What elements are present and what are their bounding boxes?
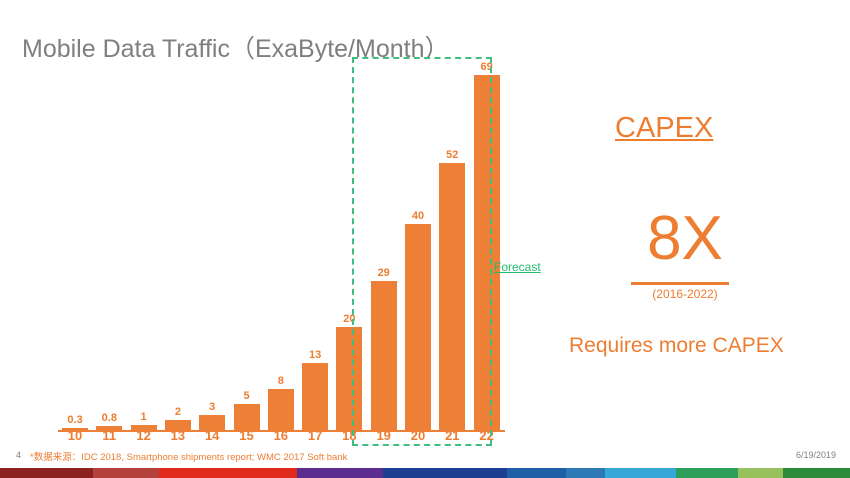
category-axis: 10111213141516171819202122 xyxy=(56,428,506,448)
capex-multiplier-underline xyxy=(631,282,729,285)
color-strip-segment xyxy=(383,468,506,478)
bar-slot: 29 xyxy=(367,60,401,430)
color-strip-segment xyxy=(93,468,160,478)
slide-number: 4 xyxy=(16,450,21,460)
bar-slot: 5 xyxy=(230,60,264,430)
source-footnote: *数据来源：IDC 2018, Smartphone shipments rep… xyxy=(30,449,347,463)
color-strip-segment xyxy=(507,468,566,478)
capex-statement: Requires more CAPEX xyxy=(569,334,784,358)
bar-series: 0.30.812358132029405269 xyxy=(56,60,506,430)
category-label: 15 xyxy=(230,428,264,443)
bar[interactable] xyxy=(336,327,362,430)
footer-color-strip xyxy=(0,468,850,478)
bar-slot: 40 xyxy=(401,60,435,430)
bar-slot: 8 xyxy=(264,60,298,430)
bar-value-label: 1 xyxy=(127,411,161,423)
bar-value-label: 0.3 xyxy=(58,414,92,426)
color-strip-segment xyxy=(0,468,93,478)
category-label: 22 xyxy=(470,428,504,443)
bar-slot: 52 xyxy=(435,60,469,430)
category-label: 18 xyxy=(332,428,366,443)
bar-value-label: 13 xyxy=(298,349,332,361)
bar[interactable] xyxy=(302,363,328,430)
slide-canvas: Mobile Data Traffic（ExaByte/Month） 0.30.… xyxy=(0,0,850,478)
bar-slot: 0.3 xyxy=(58,60,92,430)
category-label: 11 xyxy=(92,428,126,443)
color-strip-segment xyxy=(605,468,676,478)
bar-value-label: 2 xyxy=(161,406,195,418)
category-label: 10 xyxy=(58,428,92,443)
bar-slot: 3 xyxy=(195,60,229,430)
category-label: 12 xyxy=(127,428,161,443)
category-label: 14 xyxy=(195,428,229,443)
bar-value-label: 5 xyxy=(230,390,264,402)
color-strip-segment xyxy=(783,468,850,478)
bar-value-label: 69 xyxy=(470,61,504,73)
color-strip-segment xyxy=(676,468,739,478)
capex-panel: CAPEX 8X (2016-2022) Requires more CAPEX xyxy=(555,60,850,390)
bar-slot: 69 xyxy=(470,60,504,430)
bar-slot: 20 xyxy=(332,60,366,430)
bar-value-label: 8 xyxy=(264,375,298,387)
bar[interactable] xyxy=(439,163,465,430)
color-strip-segment xyxy=(159,468,296,478)
color-strip-segment xyxy=(297,468,383,478)
bar[interactable] xyxy=(268,389,294,430)
bar[interactable] xyxy=(234,404,260,430)
bar-slot: 2 xyxy=(161,60,195,430)
bar-value-label: 3 xyxy=(195,401,229,413)
category-label: 16 xyxy=(264,428,298,443)
bar-value-label: 40 xyxy=(401,210,435,222)
category-label: 21 xyxy=(435,428,469,443)
category-label: 19 xyxy=(367,428,401,443)
color-strip-segment xyxy=(738,468,783,478)
category-label: 20 xyxy=(401,428,435,443)
bar[interactable] xyxy=(371,281,397,430)
bar-slot: 1 xyxy=(127,60,161,430)
bar[interactable] xyxy=(474,75,500,430)
category-label: 13 xyxy=(161,428,195,443)
bar-value-label: 20 xyxy=(332,313,366,325)
forecast-label: Forecast xyxy=(494,260,541,274)
bar-slot: 13 xyxy=(298,60,332,430)
bar-value-label: 52 xyxy=(435,149,469,161)
bar-value-label: 29 xyxy=(367,267,401,279)
capex-heading: CAPEX xyxy=(615,112,713,145)
color-strip-segment xyxy=(566,468,605,478)
capex-period: (2016-2022) xyxy=(625,287,745,301)
bar[interactable] xyxy=(405,224,431,430)
category-label: 17 xyxy=(298,428,332,443)
bar-slot: 0.8 xyxy=(92,60,126,430)
bar-chart: 0.30.812358132029405269 xyxy=(56,50,506,432)
slide-date: 6/19/2019 xyxy=(796,450,836,460)
bar-value-label: 0.8 xyxy=(92,412,126,424)
capex-multiplier: 8X xyxy=(625,208,745,270)
